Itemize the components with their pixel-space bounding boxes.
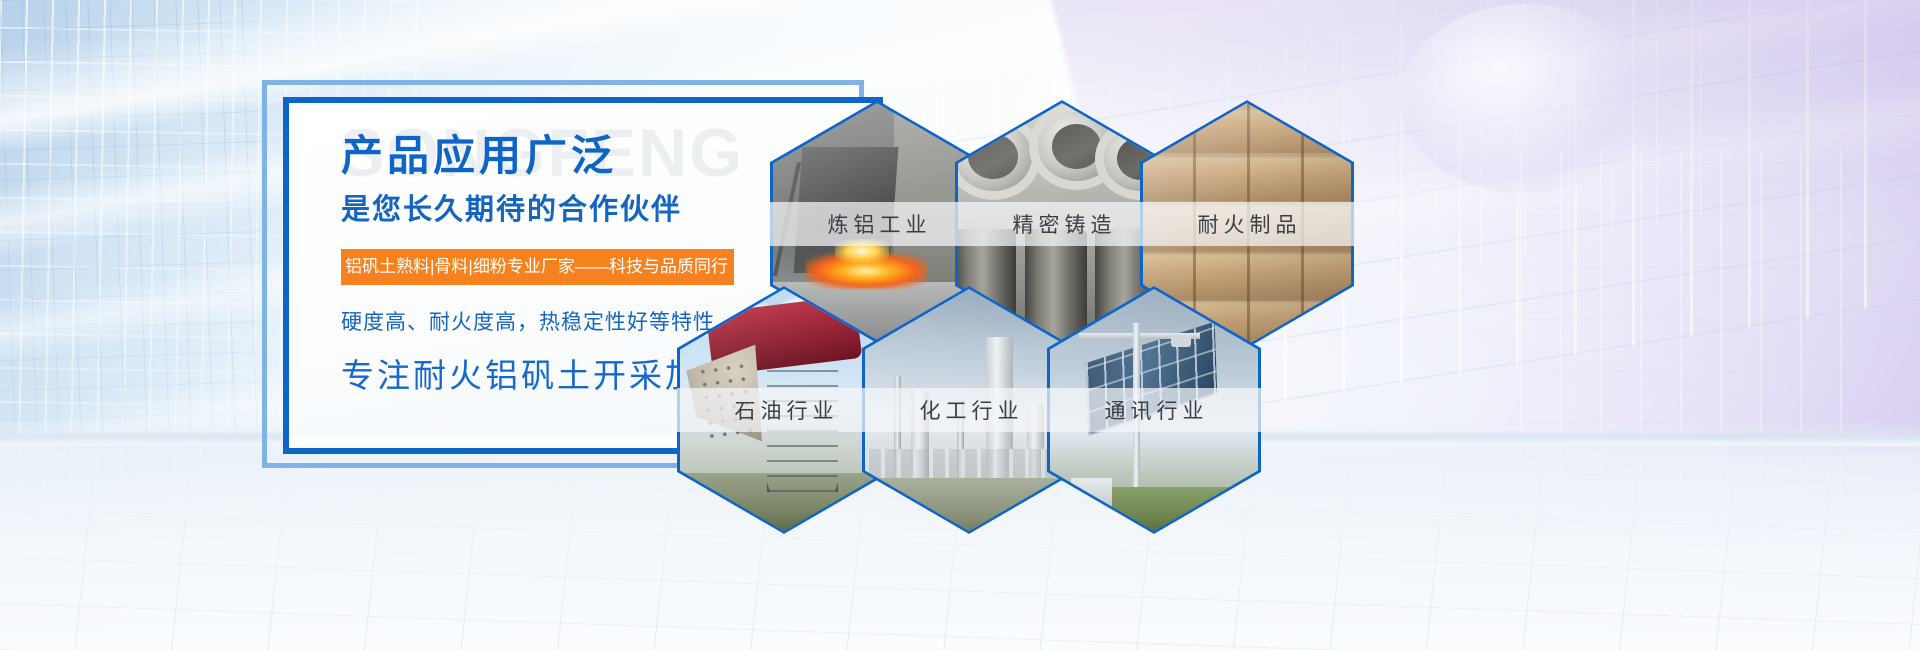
hex-label: 化工行业 [862,388,1076,432]
hex-label: 精密铸造 [955,202,1169,246]
orange-ribbon-banner: 铝矾土熟料|骨料|细粉专业厂家——科技与品质同行 [341,249,734,285]
hex-label: 通讯行业 [1047,388,1261,432]
hex-label: 炼铝工业 [770,202,984,246]
banner-stage: SONGFENG 产品应用广泛 是您长久期待的合作伙伴 铝矾土熟料|骨料|细粉专… [0,0,1920,650]
hex-label: 石油行业 [677,388,891,432]
hex-label: 耐火制品 [1140,202,1354,246]
